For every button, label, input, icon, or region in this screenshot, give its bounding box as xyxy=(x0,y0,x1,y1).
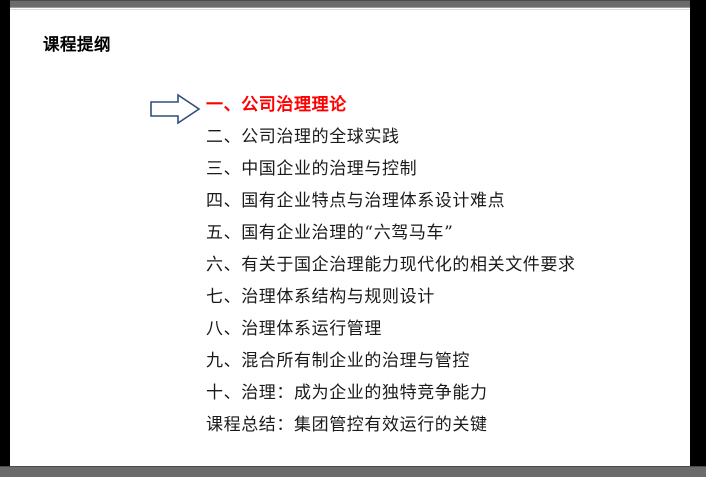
page-title: 课程提纲 xyxy=(43,31,111,55)
outline-item-7[interactable]: 七、治理体系结构与规则设计 xyxy=(206,281,676,313)
outline-item-5[interactable]: 五、国有企业治理的“六驾马车” xyxy=(206,217,676,249)
outline-item-summary[interactable]: 课程总结：集团管控有效运行的关键 xyxy=(206,409,676,441)
outline-item-3[interactable]: 三、中国企业的治理与控制 xyxy=(206,153,676,185)
outline-item-9[interactable]: 九、混合所有制企业的治理与管控 xyxy=(206,345,676,377)
slide-canvas: 课程提纲 一、公司治理理论 二、公司治理的全球实践 三、中国企业的治理与控制 四… xyxy=(10,9,690,467)
outline-item-8[interactable]: 八、治理体系运行管理 xyxy=(206,313,676,345)
outline-item-6[interactable]: 六、有关于国企治理能力现代化的相关文件要求 xyxy=(206,249,676,281)
viewer-left-edge xyxy=(0,0,10,477)
course-outline-list: 一、公司治理理论 二、公司治理的全球实践 三、中国企业的治理与控制 四、国有企业… xyxy=(206,89,676,441)
viewer-right-scrollbar[interactable] xyxy=(690,0,706,477)
viewer-bottom-chrome-bar[interactable] xyxy=(0,466,706,477)
slide-viewer: 课程提纲 一、公司治理理论 二、公司治理的全球实践 三、中国企业的治理与控制 四… xyxy=(0,0,706,477)
outline-item-2[interactable]: 二、公司治理的全球实践 xyxy=(206,121,676,153)
right-arrow-icon xyxy=(148,92,202,126)
viewer-top-chrome-bar xyxy=(0,0,706,8)
outline-item-4[interactable]: 四、国有企业特点与治理体系设计难点 xyxy=(206,185,676,217)
outline-item-1[interactable]: 一、公司治理理论 xyxy=(206,89,676,121)
outline-item-10[interactable]: 十、治理：成为企业的独特竞争能力 xyxy=(206,377,676,409)
